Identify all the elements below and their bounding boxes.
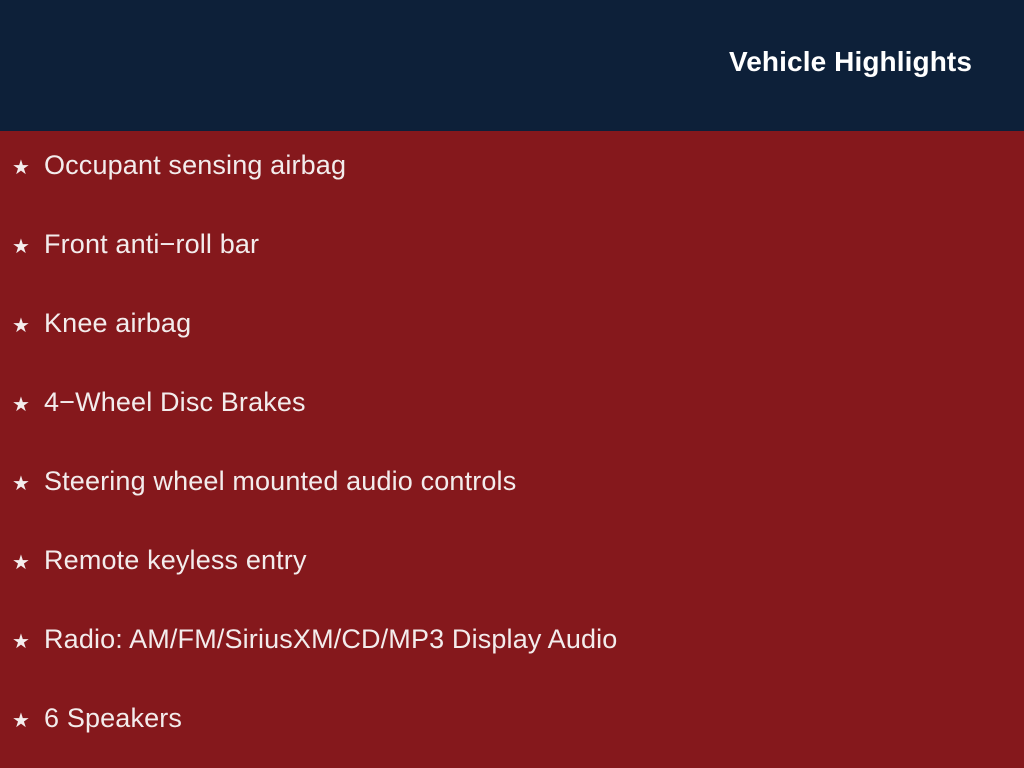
slide-body: ★ Occupant sensing airbag ★ Front anti−r… <box>0 131 1024 768</box>
star-bullet-icon: ★ <box>12 309 44 343</box>
list-item-label: Remote keyless entry <box>44 543 307 577</box>
star-bullet-icon: ★ <box>12 625 44 659</box>
star-bullet-icon: ★ <box>12 704 44 738</box>
list-item-label: Knee airbag <box>44 306 191 340</box>
vehicle-highlights-list: ★ Occupant sensing airbag ★ Front anti−r… <box>0 148 1024 768</box>
list-item: ★ 4−Wheel Disc Brakes <box>0 385 1024 464</box>
list-item-label: Occupant sensing airbag <box>44 148 346 182</box>
list-item-label: Front anti−roll bar <box>44 227 259 261</box>
list-item-label: 4−Wheel Disc Brakes <box>44 385 306 419</box>
list-item: ★ Radio: AM/FM/SiriusXM/CD/MP3 Display A… <box>0 622 1024 701</box>
slide-header-bar: Vehicle Highlights <box>0 0 1024 131</box>
list-item-label: 6 Speakers <box>44 701 182 735</box>
list-item: ★ Front anti−roll bar <box>0 227 1024 306</box>
list-item: ★ Steering wheel mounted audio controls <box>0 464 1024 543</box>
list-item: ★ Knee airbag <box>0 306 1024 385</box>
list-item: ★ Occupant sensing airbag <box>0 148 1024 227</box>
star-bullet-icon: ★ <box>12 151 44 185</box>
star-bullet-icon: ★ <box>12 546 44 580</box>
list-item: ★ Remote keyless entry <box>0 543 1024 622</box>
list-item: ★ 6 Speakers <box>0 701 1024 768</box>
star-bullet-icon: ★ <box>12 467 44 501</box>
star-bullet-icon: ★ <box>12 230 44 264</box>
vehicle-highlights-slide: Vehicle Highlights ★ Occupant sensing ai… <box>0 0 1024 768</box>
list-item-label: Radio: AM/FM/SiriusXM/CD/MP3 Display Aud… <box>44 622 617 656</box>
list-item-label: Steering wheel mounted audio controls <box>44 464 516 498</box>
page-title: Vehicle Highlights <box>729 48 972 76</box>
star-bullet-icon: ★ <box>12 388 44 422</box>
